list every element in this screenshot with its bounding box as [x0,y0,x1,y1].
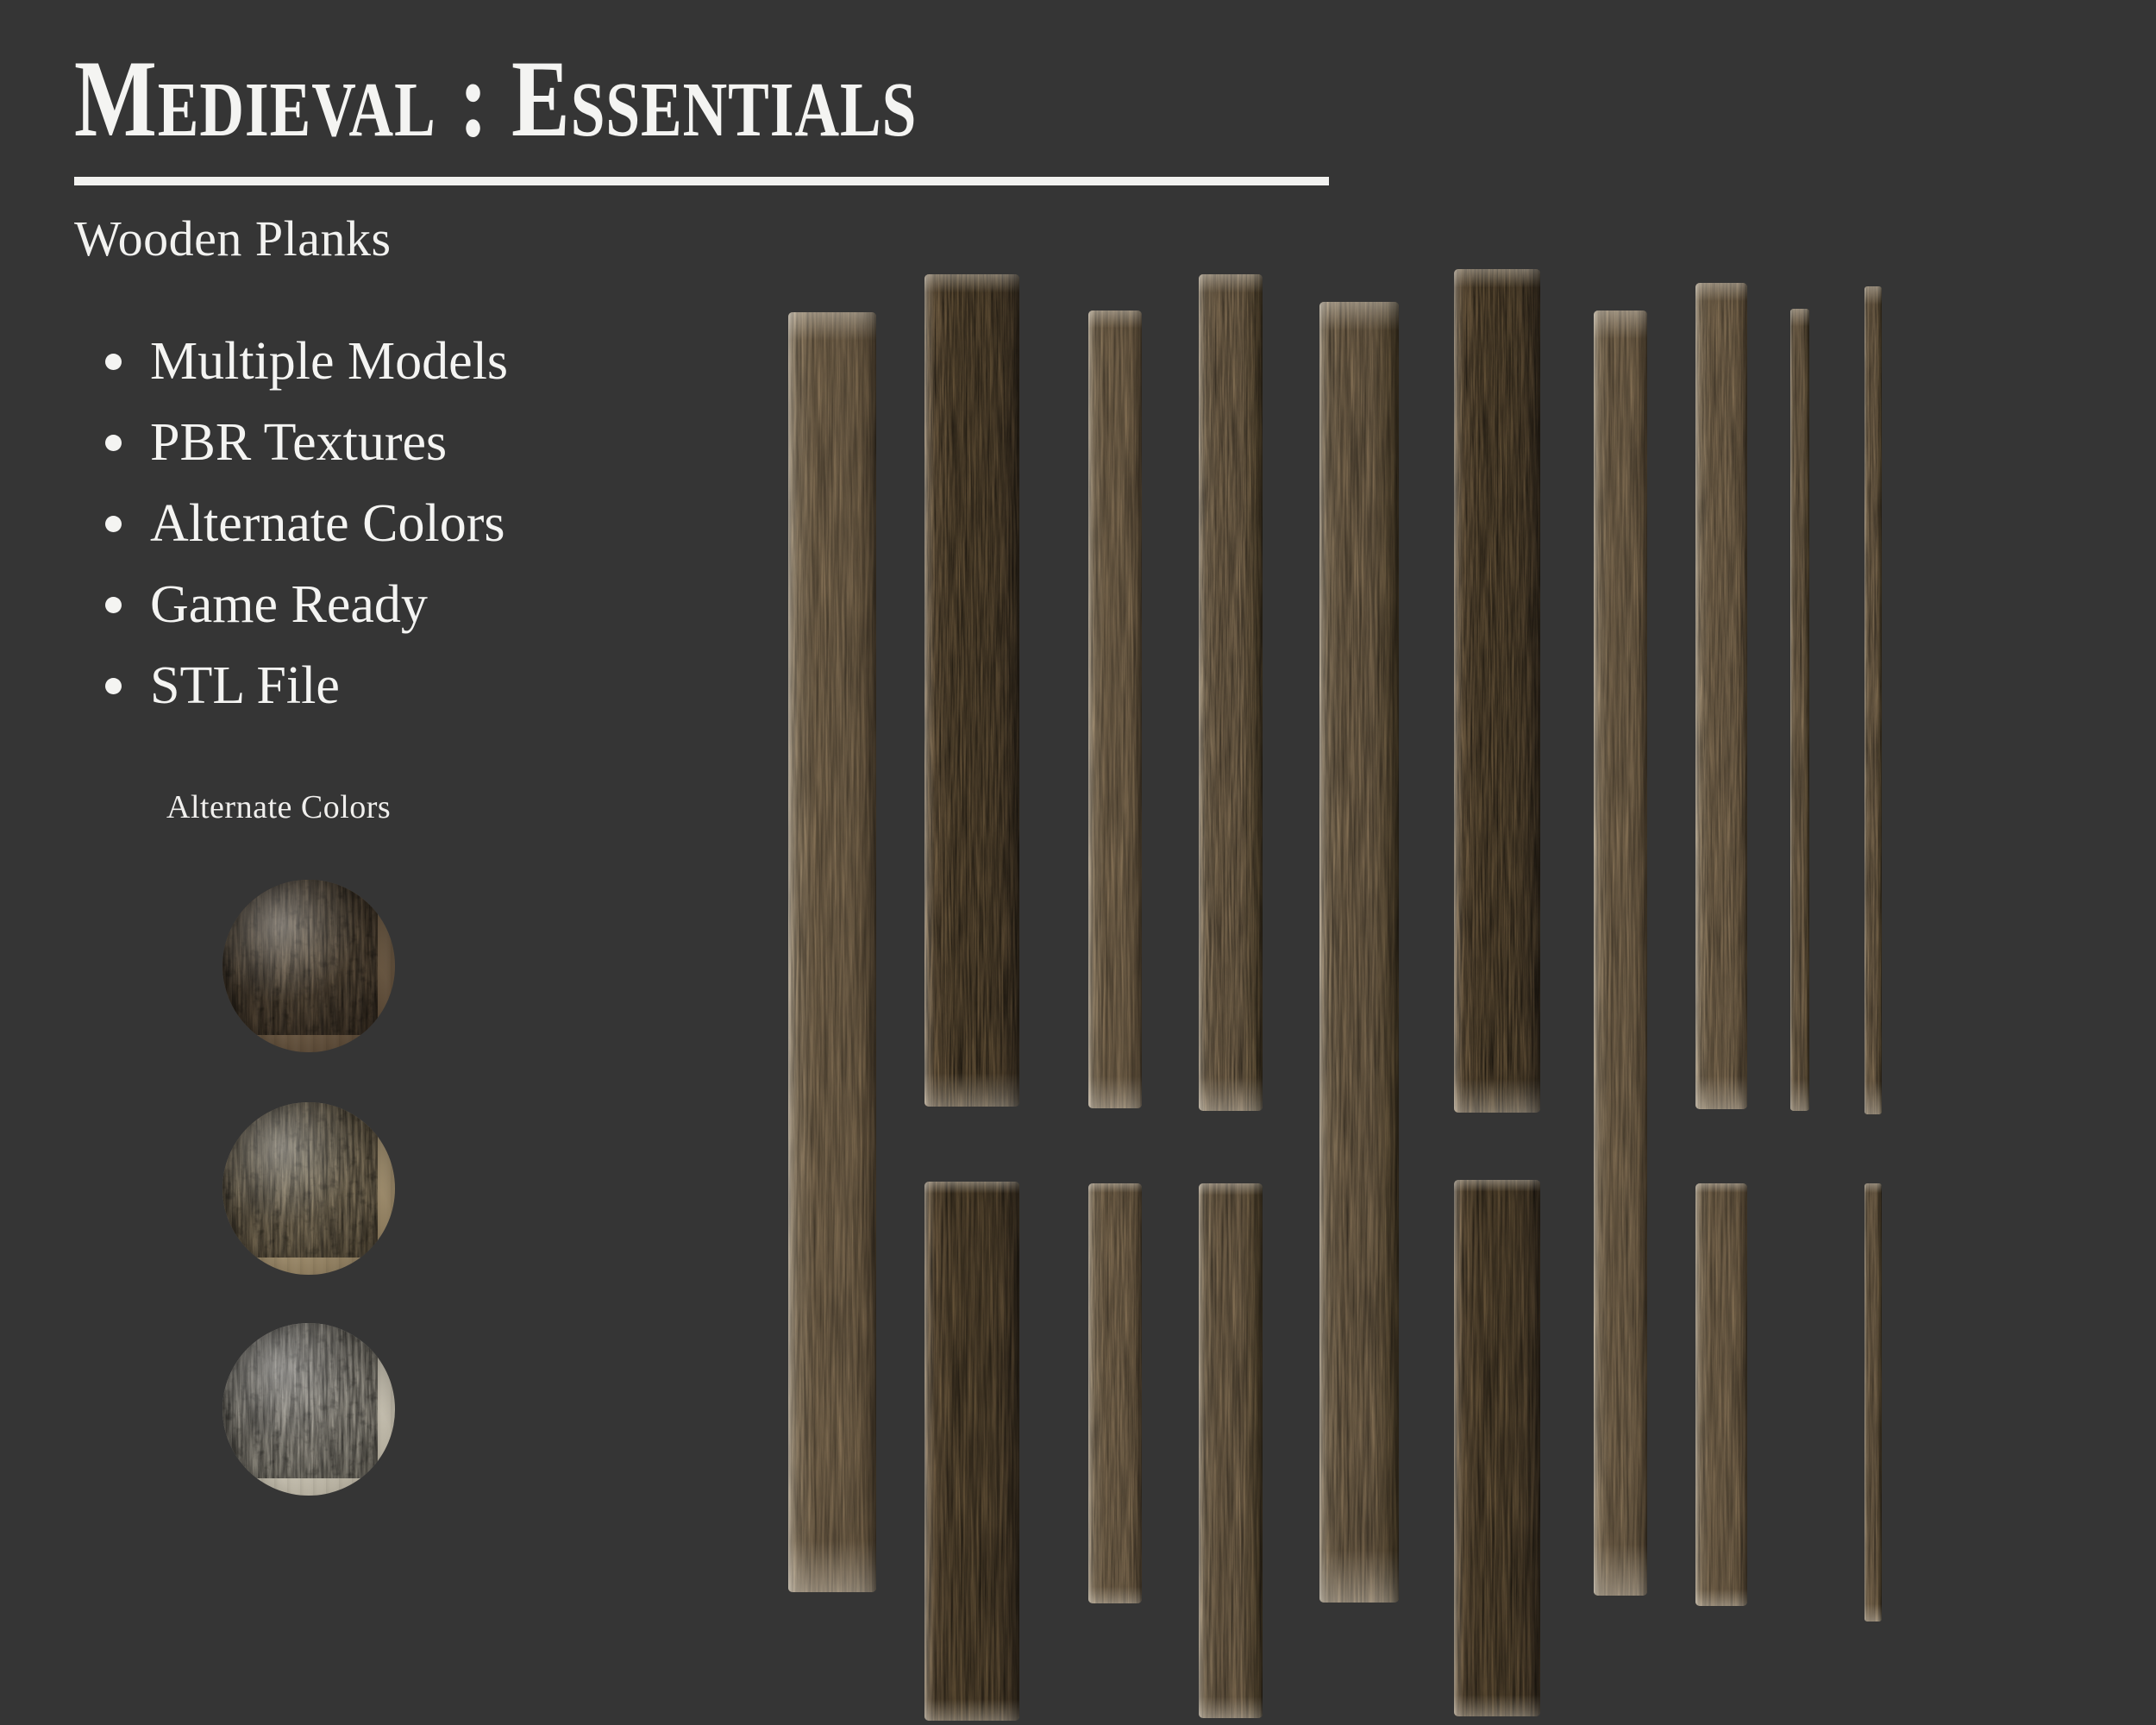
plank-edge-bevel [924,1182,1019,1721]
plank-segment[interactable] [1454,269,1540,1113]
plank-segment[interactable] [1695,283,1747,1109]
plank-segment[interactable] [1088,1183,1142,1603]
plank-edge-bevel [1695,1183,1747,1606]
plank-edge-bevel [1865,1183,1882,1621]
plank-edge-bevel [924,274,1019,1107]
product-promo-card: Medieval : Essentials Wooden Planks Mult… [0,0,2156,1725]
plank-edge-bevel [1199,1183,1263,1718]
wooden-plank-render-group [0,0,2156,1725]
plank-edge-bevel [1088,1183,1142,1603]
plank-edge-bevel [1454,269,1540,1113]
plank-edge-bevel [1865,286,1882,1114]
plank-edge-bevel [1695,283,1747,1109]
plank-edge-bevel [1454,1180,1540,1716]
plank-segment[interactable] [1594,310,1647,1596]
plank-segment[interactable] [1865,286,1882,1114]
plank-segment[interactable] [1199,274,1263,1111]
plank-edge-bevel [788,312,876,1592]
plank-edge-bevel [1594,310,1647,1596]
plank-edge-bevel [1088,310,1142,1108]
plank-segment[interactable] [1865,1183,1882,1621]
plank-segment[interactable] [1790,309,1809,1111]
plank-segment[interactable] [1088,310,1142,1108]
plank-segment[interactable] [788,312,876,1592]
plank-segment[interactable] [1454,1180,1540,1716]
plank-segment[interactable] [924,274,1019,1107]
plank-edge-bevel [1199,274,1263,1111]
plank-segment[interactable] [1199,1183,1263,1718]
plank-segment[interactable] [1695,1183,1747,1606]
plank-edge-bevel [1790,309,1809,1111]
plank-edge-bevel [1319,302,1399,1603]
plank-segment[interactable] [1319,302,1399,1603]
plank-segment[interactable] [924,1182,1019,1721]
